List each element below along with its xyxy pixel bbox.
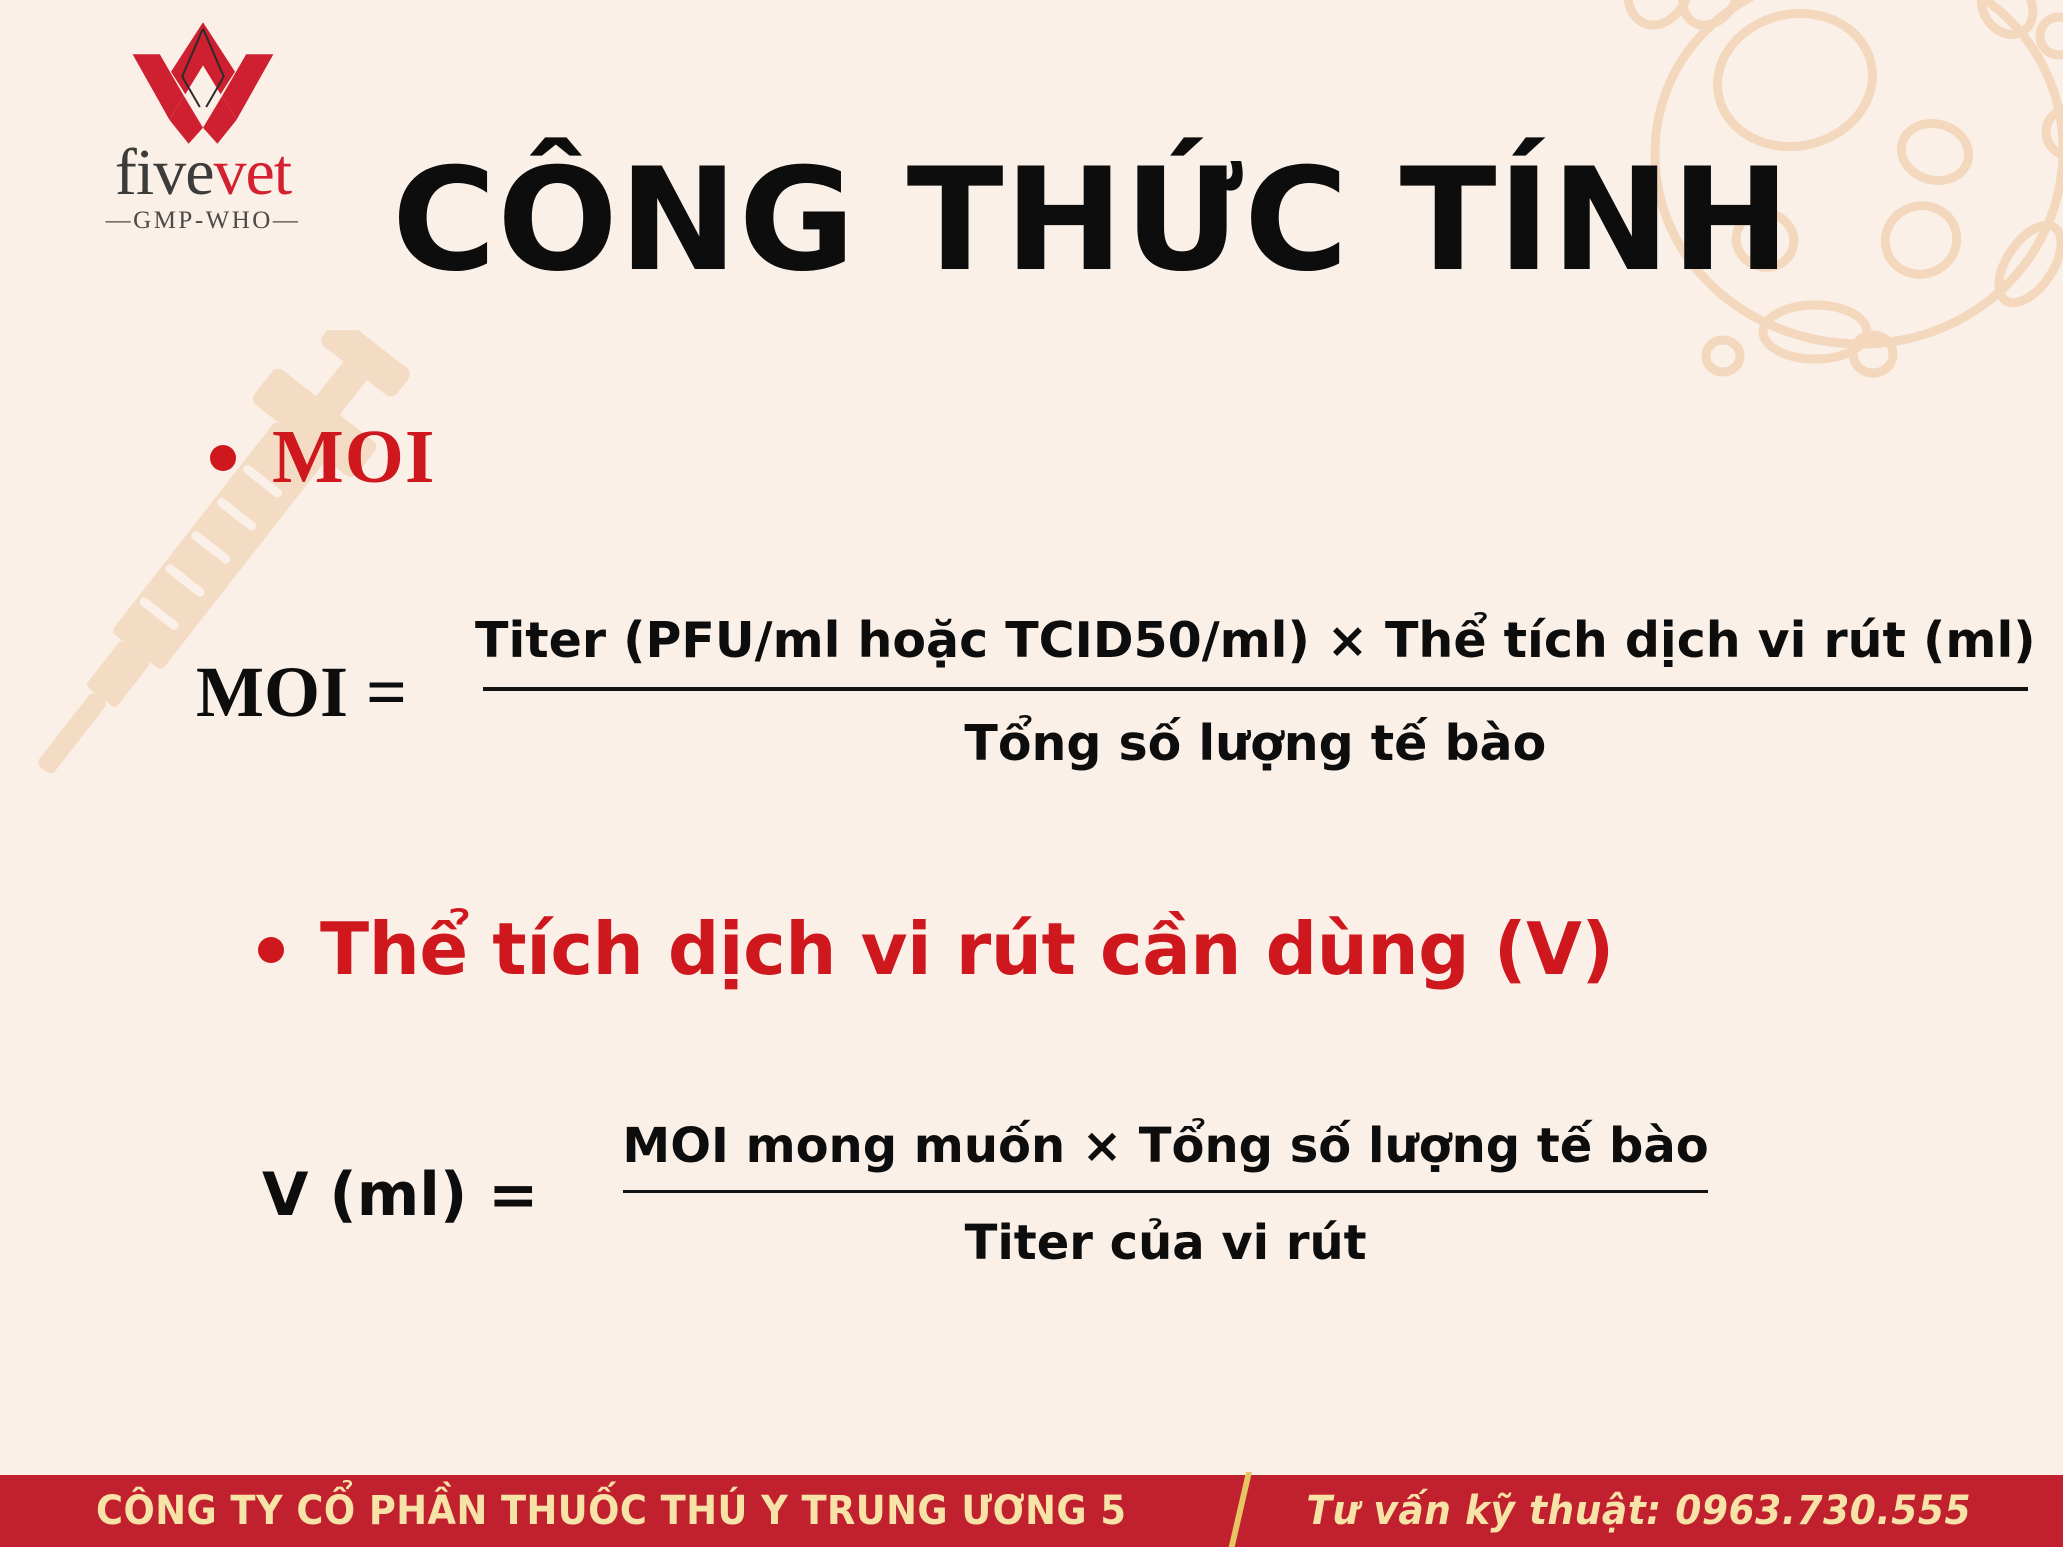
bullet-item-volume: Thể tích dịch vi rút cần dùng (V)	[258, 912, 1614, 988]
formula-volume: V (ml) = MOI mong muốn × Tổng số lượng t…	[262, 1118, 1719, 1271]
formula-volume-fraction: MOI mong muốn × Tổng số lượng tế bào Tit…	[612, 1118, 1718, 1271]
bullet-dot-icon	[258, 937, 284, 963]
formula-moi-denominator: Tổng số lượng tế bào	[954, 691, 1556, 772]
formula-moi: MOI = Titer (PFU/ml hoặc TCID50/ml) × Th…	[196, 612, 2046, 772]
formula-volume-lhs: V (ml) =	[262, 1160, 538, 1230]
fivevet-mark-icon	[123, 18, 283, 148]
bullet-dot-icon	[210, 445, 236, 471]
footer-divider	[1228, 1472, 1252, 1547]
footer-company-name: CÔNG TY CỔ PHẦN THUỐC THÚ Y TRUNG ƯƠNG 5	[96, 1488, 1126, 1534]
formula-moi-fraction: Titer (PFU/ml hoặc TCID50/ml) × Thể tích…	[465, 612, 2046, 772]
footer-bar: CÔNG TY CỔ PHẦN THUỐC THÚ Y TRUNG ƯƠNG 5…	[0, 1475, 2063, 1547]
bullet-label-volume: Thể tích dịch vi rút cần dùng (V)	[320, 912, 1614, 988]
footer-support-contact: Tư vấn kỹ thuật: 0963.730.555	[1306, 1488, 1971, 1534]
syringe-icon	[0, 330, 440, 890]
bullet-label-moi: MOI	[272, 418, 435, 498]
bullet-item-moi: MOI	[210, 418, 435, 498]
formula-moi-lhs: MOI =	[196, 651, 407, 734]
slide-canvas: fivevet —GMP-WHO— CÔNG THỨC TÍNH MOI MOI…	[0, 0, 2063, 1547]
page-title: CÔNG THỨC TÍNH	[0, 150, 2063, 292]
formula-volume-denominator: Titer của vi rút	[955, 1193, 1377, 1271]
formula-moi-numerator: Titer (PFU/ml hoặc TCID50/ml) × Thể tích…	[465, 612, 2046, 687]
formula-volume-numerator: MOI mong muốn × Tổng số lượng tế bào	[612, 1118, 1718, 1190]
